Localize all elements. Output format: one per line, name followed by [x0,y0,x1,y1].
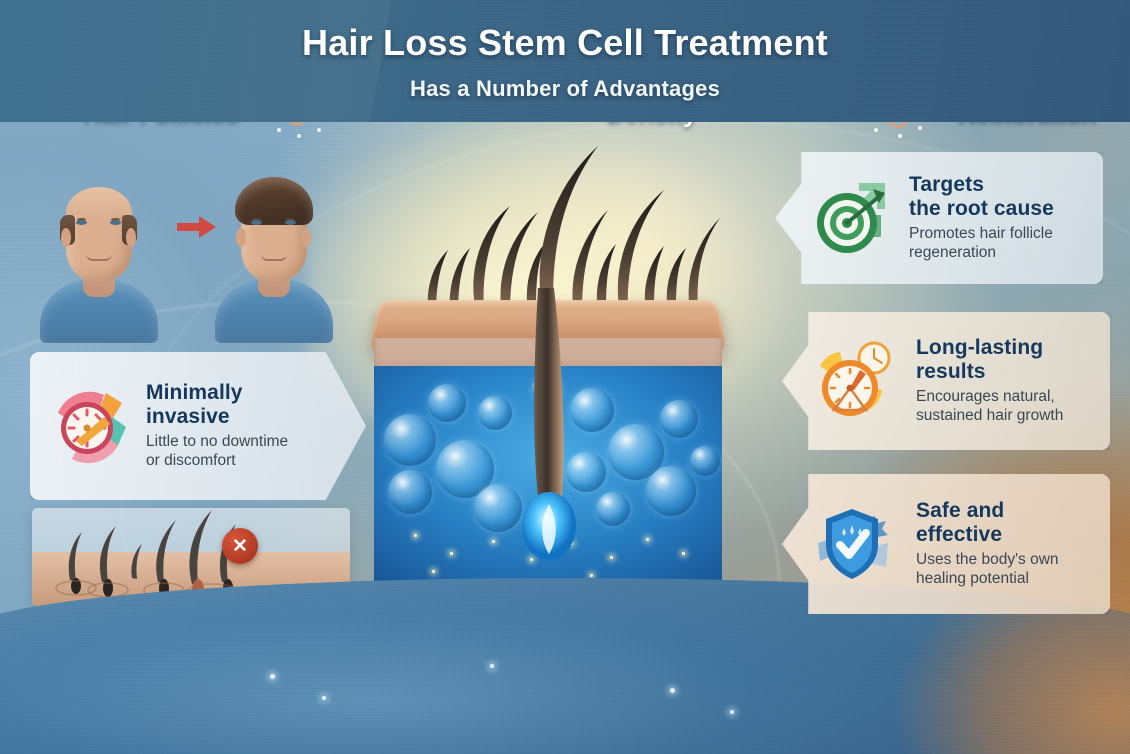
portrait-eye [251,220,262,225]
card-title-line2: the root cause [909,197,1054,220]
card-desc-line1: Encourages natural, [916,388,1055,405]
target-dartboard-icon [809,175,895,261]
header-band: Hair Loss Stem Cell Treatment Has a Numb… [0,0,1130,122]
card-desc-line2: sustained hair growth [916,407,1063,424]
portrait-mouth [86,254,112,261]
card-desc-line1: Little to no downtime [146,433,288,450]
feature-card-minimally-invasive[interactable]: Minimally invasive Little to no downtime… [30,352,366,500]
bald-scalp [66,187,132,215]
card-desc-line1: Uses the body's own [916,551,1059,568]
portrait-eye [110,220,121,225]
alarm-clock-icon [816,338,902,424]
card-desc-line2: regeneration [909,244,996,261]
feature-card-long-lasting-results[interactable]: Long-lasting results Encourages natural,… [782,312,1110,450]
skin-cross-section-follicle [368,138,728,608]
portrait-ear [61,228,71,247]
right-arrow-icon [177,214,217,240]
x-mark-icon: ✕ [222,528,258,564]
page-title: Hair Loss Stem Cell Treatment [302,22,828,64]
after-restored-hair-portrait [211,138,336,343]
card-title-line1: Long-lasting [916,336,1043,359]
card-title-line2: invasive [146,405,230,428]
portrait-mouth [261,254,287,261]
before-balding-portrait [36,138,161,343]
hair-follicle-root [518,288,580,588]
infographic-poster: Hair Loss Stem Cell Treatment Has a Numb… [0,0,1130,754]
card-title-line1: Safe and [916,499,1004,522]
portrait-eye [76,220,87,225]
stopwatch-gauge-icon [46,383,132,469]
card-title-line2: effective [916,523,1002,546]
card-desc-line1: Promotes hair follicle [909,225,1053,242]
portrait-ear [126,228,136,247]
card-title-line1: Targets [909,173,984,196]
card-title-line1: Minimally [146,381,243,404]
feature-card-targets-root-cause[interactable]: Targets the root cause Promotes hair fol… [775,152,1103,284]
card-title-line2: results [916,360,986,383]
card-desc-line2: or discomfort [146,452,236,469]
card-desc-line2: healing potential [916,570,1029,587]
portrait-ear [236,228,246,247]
portrait-eye [285,220,296,225]
full-hair [235,177,313,225]
feature-card-safe-and-effective[interactable]: Safe and effective Uses the body's own h… [782,474,1110,614]
shield-check-icon [816,501,902,587]
before-after-portraits [36,128,336,343]
page-subtitle: Has a Number of Advantages [410,76,720,102]
portrait-ear [301,228,311,247]
